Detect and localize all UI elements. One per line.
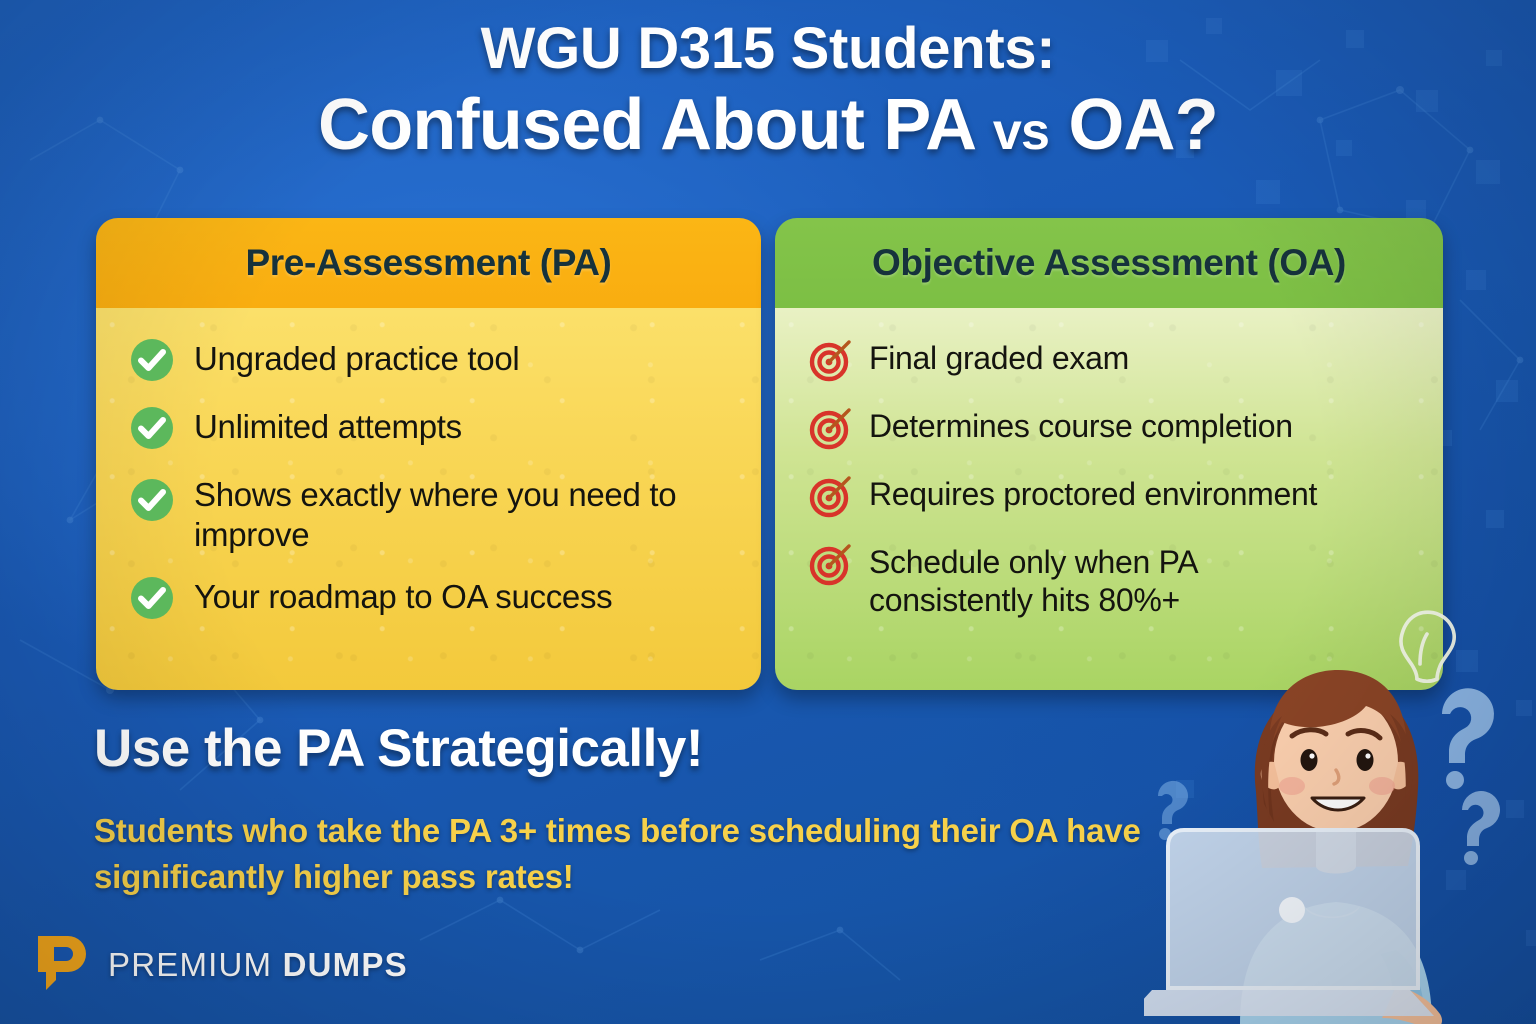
list-item: Unlimited attempts	[128, 404, 735, 452]
list-item: Shows exactly where you need to improve	[128, 472, 735, 554]
student-with-laptop-illustration	[1144, 594, 1536, 1024]
question-mark-icon	[1442, 688, 1494, 789]
eye	[1357, 749, 1374, 771]
list-item-label: Ungraded practice tool	[194, 336, 519, 379]
card-pre-assessment-body: Ungraded practice tool Unlimited attempt…	[96, 308, 761, 690]
p-speech-bubble-icon	[34, 934, 90, 996]
page-title: WGU D315 Students: Confused About PA vs …	[0, 18, 1536, 166]
list-item-label: Unlimited attempts	[194, 404, 462, 447]
laptop-icon	[1144, 830, 1434, 1016]
check-circle-icon	[128, 574, 176, 622]
check-circle-icon	[128, 404, 176, 452]
card-objective-assessment: Objective Assessment (OA) Final graded e…	[775, 218, 1443, 690]
list-item-label: Shows exactly where you need to improve	[194, 472, 724, 554]
question-mark-icon	[1462, 791, 1500, 865]
target-icon	[807, 404, 855, 452]
headline-vs-label: vs	[993, 103, 1049, 161]
list-item: Final graded exam	[807, 336, 1417, 384]
card-pre-assessment: Pre-Assessment (PA) Ungraded practice to…	[96, 218, 761, 690]
card-pre-assessment-title: Pre-Assessment (PA)	[96, 218, 761, 308]
cheek	[1369, 777, 1395, 795]
brand-logo[interactable]: PREMIUM DUMPS	[34, 934, 408, 996]
check-circle-icon	[128, 476, 176, 524]
infographic-canvas: WGU D315 Students: Confused About PA vs …	[0, 0, 1536, 1024]
target-icon	[807, 472, 855, 520]
lightbulb-icon	[1401, 612, 1454, 681]
headline-line-2: Confused About PA vs OA?	[0, 85, 1536, 166]
card-objective-assessment-title: Objective Assessment (OA)	[775, 218, 1443, 308]
list-item-label: Determines course completion	[869, 404, 1293, 445]
list-item: Schedule only when PA consistently hits …	[807, 540, 1417, 620]
cheek	[1279, 777, 1305, 795]
list-item-label: Schedule only when PA consistently hits …	[869, 540, 1319, 620]
list-item: Requires proctored environment	[807, 472, 1417, 520]
brand-name-premium: PREMIUM	[108, 946, 272, 983]
list-item-label: Final graded exam	[869, 336, 1129, 377]
target-icon	[807, 336, 855, 384]
headline-line-2-part-a: Confused About PA	[318, 85, 993, 165]
cta-heading: Use the PA Strategically!	[94, 718, 703, 779]
brand-name-dumps: DUMPS	[283, 946, 408, 983]
list-item-label: Your roadmap to OA success	[194, 574, 612, 617]
pre-assessment-list: Ungraded practice tool Unlimited attempt…	[128, 336, 735, 622]
cta-subtext: Students who take the PA 3+ times before…	[94, 808, 1154, 899]
headline-line-1: WGU D315 Students:	[0, 18, 1536, 79]
target-icon	[807, 540, 855, 588]
eye	[1301, 749, 1318, 771]
check-circle-icon	[128, 336, 176, 384]
objective-assessment-list: Final graded exam Determines course comp…	[807, 336, 1417, 620]
list-item: Ungraded practice tool	[128, 336, 735, 384]
list-item-label: Requires proctored environment	[869, 472, 1317, 513]
headline-line-2-part-b: OA?	[1049, 85, 1218, 165]
list-item: Your roadmap to OA success	[128, 574, 735, 622]
list-item: Determines course completion	[807, 404, 1417, 452]
brand-logo-text: PREMIUM DUMPS	[108, 946, 408, 984]
